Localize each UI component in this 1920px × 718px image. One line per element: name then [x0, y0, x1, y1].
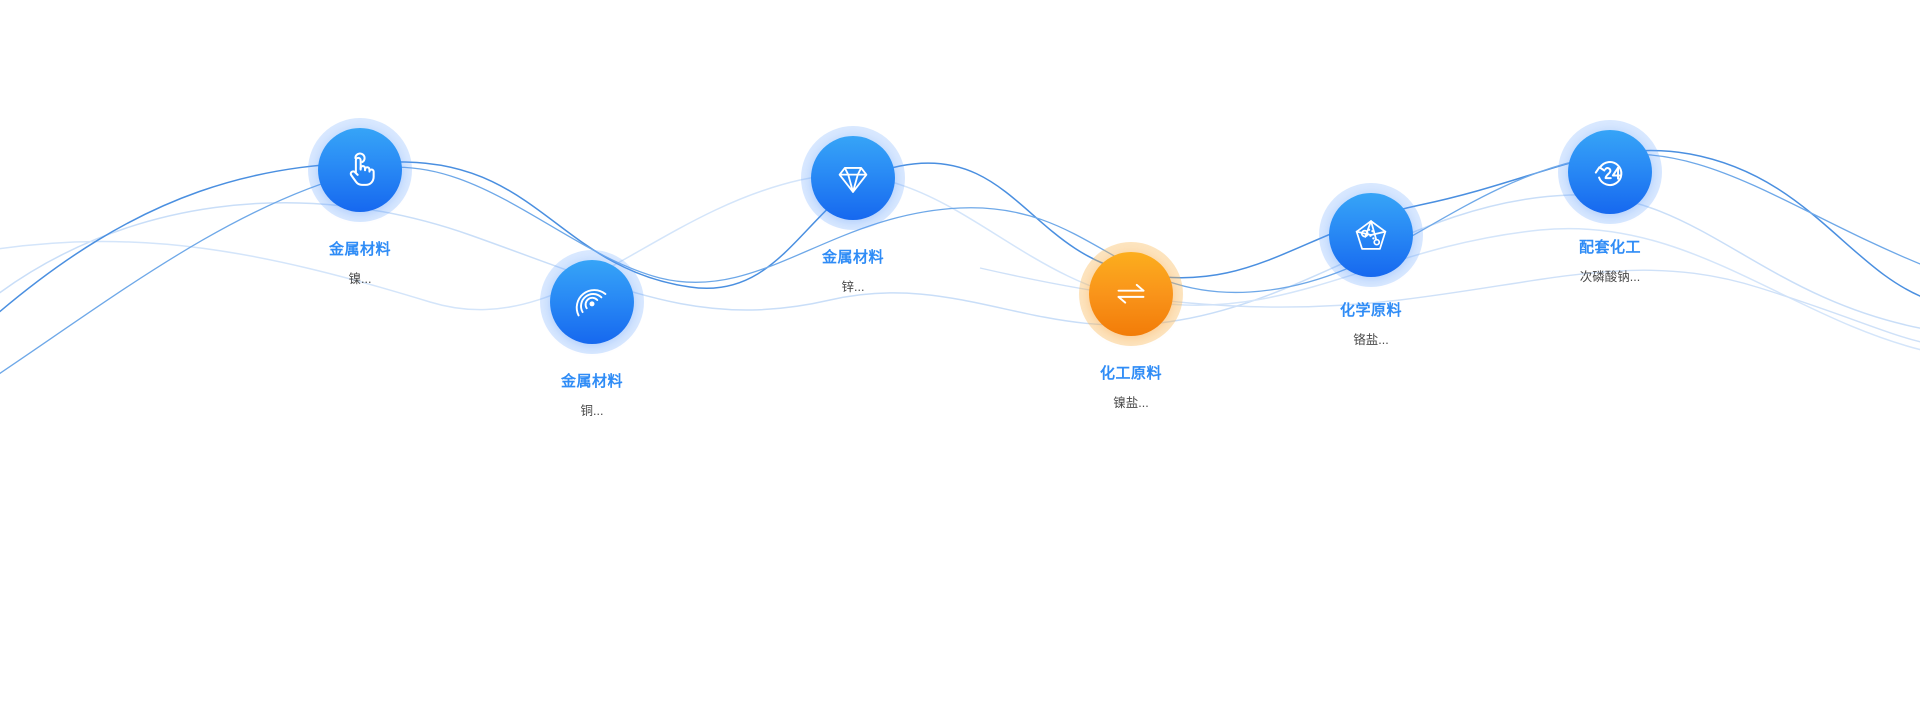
- twentyfour-hour-icon: [1587, 149, 1633, 195]
- industry-chain-diagram: 金属材料 镍... 金属材料 铜...: [0, 0, 1920, 718]
- node-material: 次磷酸钠...: [1480, 268, 1740, 286]
- node-bubble[interactable]: [308, 118, 412, 222]
- node-labels: 配套化工 次磷酸钠...: [1480, 238, 1740, 286]
- node-bubble[interactable]: [1558, 120, 1662, 224]
- node-category: 化学原料: [1241, 301, 1501, 321]
- node-labels: 化工原料 镍盐...: [1001, 364, 1261, 412]
- node-bubble[interactable]: [1079, 242, 1183, 346]
- pentagon-molecule-icon: [1348, 212, 1394, 258]
- node-labels: 金属材料 镍...: [230, 240, 490, 288]
- node-material: 镍...: [230, 270, 490, 288]
- node-disc: [1568, 130, 1652, 214]
- node-category: 化工原料: [1001, 364, 1261, 384]
- node-material: 锌...: [723, 278, 983, 296]
- node-disc: [1329, 193, 1413, 277]
- reversible-reaction-icon: [1108, 271, 1154, 317]
- node-bubble[interactable]: [1319, 183, 1423, 287]
- background-curves: [0, 0, 1920, 718]
- node-category: 金属材料: [230, 240, 490, 260]
- node-labels: 化学原料 铬盐...: [1241, 301, 1501, 349]
- node-disc: [318, 128, 402, 212]
- node-category: 金属材料: [462, 372, 722, 392]
- node-labels: 金属材料 铜...: [462, 372, 722, 420]
- node-disc: [811, 136, 895, 220]
- node-labels: 金属材料 锌...: [723, 248, 983, 296]
- node-material: 铜...: [462, 402, 722, 420]
- node-material: 镍盐...: [1001, 394, 1261, 412]
- node-bubble[interactable]: [801, 126, 905, 230]
- diamond-gem-icon: [830, 155, 876, 201]
- signal-waves-icon: [569, 279, 615, 325]
- node-disc: [1089, 252, 1173, 336]
- node-category: 金属材料: [723, 248, 983, 268]
- node-disc: [550, 260, 634, 344]
- node-material: 铬盐...: [1241, 331, 1501, 349]
- node-category: 配套化工: [1480, 238, 1740, 258]
- node-bubble[interactable]: [540, 250, 644, 354]
- hand-click-icon: [338, 148, 382, 192]
